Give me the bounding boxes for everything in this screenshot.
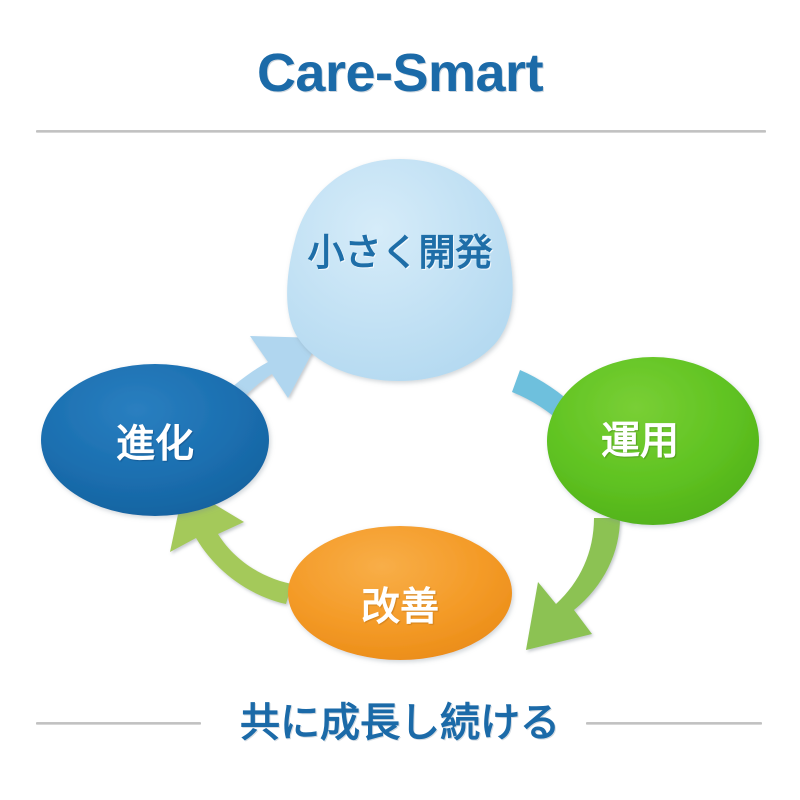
page-title: Care-Smart	[0, 42, 800, 104]
page-caption: 共に成長し続ける	[0, 697, 800, 749]
node-develop[interactable]	[287, 159, 513, 381]
arrow-operate-to-improve	[526, 518, 620, 650]
node-evolve[interactable]	[41, 364, 269, 516]
node-improve[interactable]	[288, 526, 512, 660]
node-operate[interactable]	[547, 357, 759, 525]
diagram-canvas: Care-Smart	[0, 0, 800, 800]
divider-top	[36, 130, 766, 133]
cycle-diagram	[0, 140, 800, 700]
